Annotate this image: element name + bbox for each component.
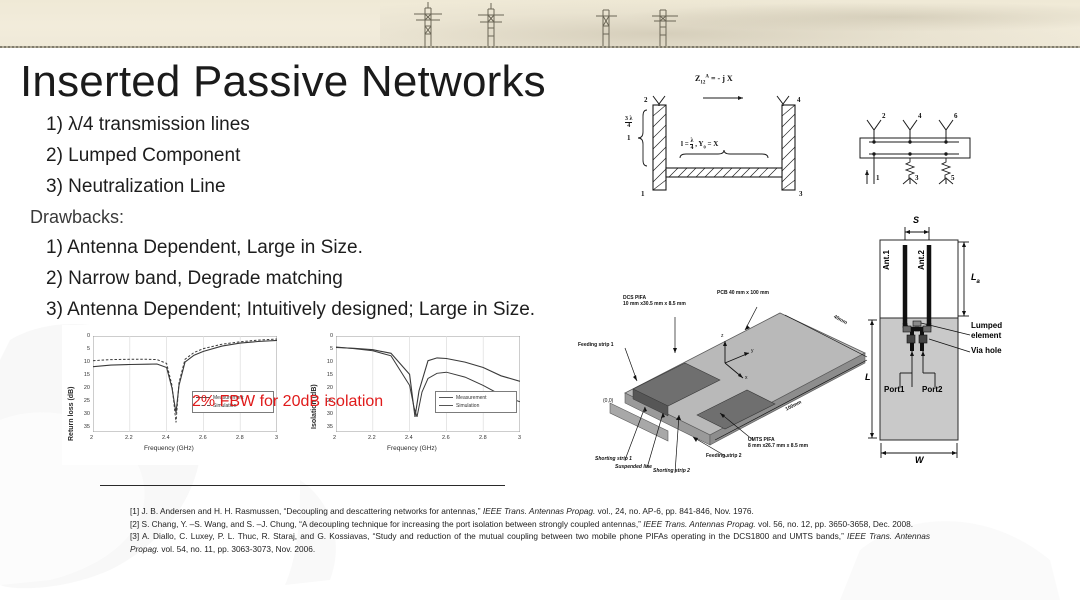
chart2-legend-item: Simulation bbox=[439, 402, 513, 410]
reference-item-3: [3] A. Diallo, C. Luxey, P. L. Thuc, R. … bbox=[130, 530, 930, 555]
page-title: Inserted Passive Networks bbox=[20, 60, 546, 104]
bullet-list: 1) λ/4 transmission lines 2) Lumped Comp… bbox=[46, 115, 646, 331]
chart2-y-tick: 20 bbox=[319, 385, 333, 391]
array-label-port-6: 6 bbox=[954, 112, 958, 120]
reference-item-2: [2] S. Chang, Y. –S. Wang, and S. –J. Ch… bbox=[130, 518, 930, 531]
label-feeding-strip-1: Feeding strip 1 bbox=[578, 342, 614, 348]
label-origin: (0,0) bbox=[603, 398, 613, 404]
banner-bottom-rule bbox=[0, 46, 1080, 48]
chart1-x-tick: 2 bbox=[90, 435, 93, 441]
label-port-1: Port1 bbox=[884, 385, 904, 394]
circuit-label-port-2: 2 bbox=[644, 96, 648, 104]
annotation-fbw-isolation: 2% FBW for 20dB isolation bbox=[192, 393, 383, 411]
circuit-label-port-4: 4 bbox=[797, 96, 801, 104]
chart2-x-tick: 2.2 bbox=[368, 435, 376, 441]
list-item: 1) λ/4 transmission lines bbox=[46, 115, 646, 134]
figure-pifa-3d: PCB 40 mm x 100 mm DCS PIFA10 mm x30.5 m… bbox=[575, 285, 875, 475]
label-umts-pifa: UMTS PIFA8 mm x26.7 mm x 8.5 mm bbox=[748, 437, 808, 449]
chart2-y-tick: 35 bbox=[319, 424, 333, 430]
chart2-x-tick: 2.6 bbox=[442, 435, 450, 441]
chart2-x-tick: 2 bbox=[333, 435, 336, 441]
label-shorting-strip-2: Shorting strip 2 bbox=[653, 468, 690, 474]
legend-line-solid bbox=[439, 397, 453, 398]
pylon-icon-1 bbox=[410, 0, 446, 46]
axis-label-z: z bbox=[721, 333, 724, 339]
list-item: 2) Narrow band, Degrade matching bbox=[46, 269, 646, 288]
pylon-icon-3 bbox=[588, 0, 624, 46]
label-length-l: L bbox=[865, 372, 871, 382]
chart2-legend: Measurement Simulation bbox=[435, 391, 517, 413]
label-suspended-line: Suspended line bbox=[615, 464, 652, 470]
label-ant-2: Ant.2 bbox=[917, 250, 926, 270]
circuit-equation-top: Z12A = - j X bbox=[695, 74, 733, 86]
axis-label-x: x bbox=[745, 375, 748, 381]
label-shorting-strip-1: Shorting strip 1 bbox=[595, 456, 632, 462]
chart1-x-tick: 2.8 bbox=[236, 435, 244, 441]
pylon-icon-4 bbox=[645, 0, 681, 46]
label-pcb-size: PCB 40 mm x 100 mm bbox=[717, 290, 769, 296]
array-label-port-1: 1 bbox=[876, 174, 880, 182]
chart2-x-tick: 3 bbox=[518, 435, 521, 441]
chart1-y-tick: 20 bbox=[76, 385, 90, 391]
array-label-port-2: 2 bbox=[882, 112, 886, 120]
label-dcs-pifa: DCS PIFA10 mm x30.5 mm x 8.5 mm bbox=[623, 295, 686, 307]
circuit-equation-left: 3 λ4 bbox=[625, 116, 632, 129]
chart2-legend-item: Measurement bbox=[439, 394, 513, 402]
chart2-y-tick: 5 bbox=[319, 346, 333, 352]
chart2-y-tick: 15 bbox=[319, 372, 333, 378]
label-via-hole: Via hole bbox=[971, 346, 1002, 355]
chart2-x-tick: 2.8 bbox=[479, 435, 487, 441]
chart1-x-tick: 2.4 bbox=[162, 435, 170, 441]
chart2-y-tick: 0 bbox=[319, 333, 333, 339]
chart1-plot bbox=[93, 336, 277, 432]
banner-photo bbox=[0, 0, 1080, 48]
array-label-port-4: 4 bbox=[918, 112, 922, 120]
references-block: [1] J. B. Andersen and H. H. Rasmussen, … bbox=[130, 505, 930, 555]
label-ant-1: Ant.1 bbox=[882, 250, 891, 270]
array-label-port-3: 3 bbox=[915, 174, 919, 182]
chart1-y-tick: 0 bbox=[76, 333, 90, 339]
chart1-y-tick: 30 bbox=[76, 411, 90, 417]
figure-quarter-wave-network: Z12A = - j X 2 4 1 3 3 λ4 1 l = λ4 , Y0 … bbox=[625, 70, 840, 235]
circuit-equation-mid: l = λ4 , Y0 = X bbox=[681, 138, 718, 151]
chart2-x-tick: 2.4 bbox=[405, 435, 413, 441]
label-port-2: Port2 bbox=[922, 385, 942, 394]
list-item: 1) Antenna Dependent, Large in Size. bbox=[46, 238, 646, 257]
chart1-x-tick: 2.6 bbox=[199, 435, 207, 441]
list-item: 2) Lumped Component bbox=[46, 146, 646, 165]
label-width-w: W bbox=[915, 455, 924, 465]
figure-lumped-array: 2 4 6 1 3 5 bbox=[855, 112, 1015, 207]
banner-haze-2 bbox=[620, 2, 1080, 32]
chart1-y-tick: 15 bbox=[76, 372, 90, 378]
label-feeding-strip-2: Feeding strip 2 bbox=[706, 453, 742, 459]
chart1-y-tick: 5 bbox=[76, 346, 90, 352]
circuit-label-port-1: 1 bbox=[641, 190, 645, 198]
chart2-plot bbox=[336, 336, 520, 432]
label-lumped-element: Lumpedelement bbox=[971, 321, 1002, 341]
circuit-label-left-one: 1 bbox=[627, 134, 631, 142]
label-spacing-s: S bbox=[913, 215, 919, 225]
axis-label-y: y bbox=[751, 348, 754, 354]
chart1-y-tick: 35 bbox=[76, 424, 90, 430]
list-item: 3) Neutralization Line bbox=[46, 177, 646, 196]
label-length-la: La bbox=[971, 272, 980, 285]
circuit-label-port-3: 3 bbox=[799, 190, 803, 198]
array-label-port-5: 5 bbox=[951, 174, 955, 182]
references-divider bbox=[100, 485, 505, 486]
reference-item-1: [1] J. B. Andersen and H. H. Rasmussen, … bbox=[130, 505, 930, 518]
pylon-icon-2 bbox=[473, 0, 509, 46]
legend-line-solid-2 bbox=[439, 405, 453, 406]
figure-monopole-pair: S La L W Ant.1 Ant.2 Lumpedelement Via h… bbox=[865, 215, 1040, 465]
chart1-x-axis-label: Frequency (GHz) bbox=[144, 445, 194, 452]
chart1-x-tick: 2.2 bbox=[125, 435, 133, 441]
chart1-y-tick: 25 bbox=[76, 398, 90, 404]
chart2-y-tick: 30 bbox=[319, 411, 333, 417]
chart2-x-axis-label: Frequency (GHz) bbox=[387, 445, 437, 452]
list-item-drawbacks-header: Drawbacks: bbox=[30, 208, 646, 226]
chart1-y-axis-label: Return loss (dB) bbox=[68, 387, 75, 441]
chart2-y-tick: 10 bbox=[319, 359, 333, 365]
list-item: 3) Antenna Dependent; Intuitively design… bbox=[46, 300, 646, 319]
chart1-y-tick: 10 bbox=[76, 359, 90, 365]
chart1-x-tick: 3 bbox=[275, 435, 278, 441]
